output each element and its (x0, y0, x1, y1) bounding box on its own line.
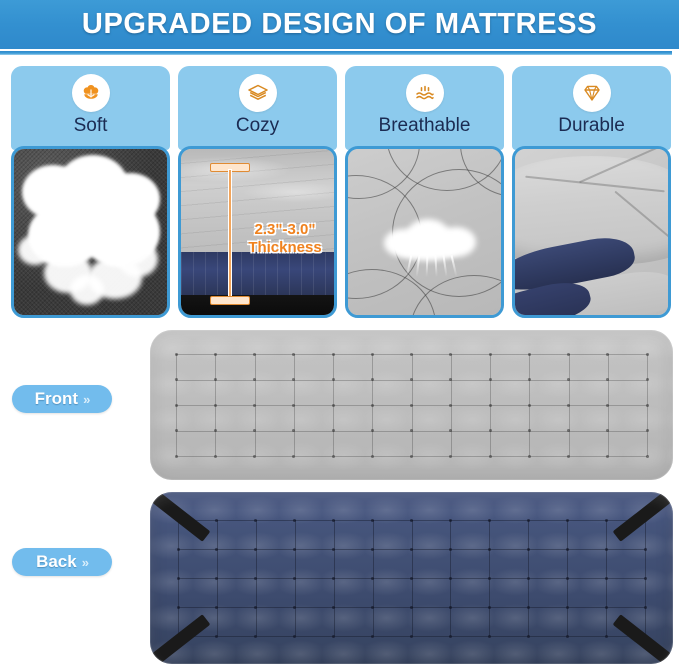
page-title: UPGRADED DESIGN OF MATTRESS (82, 8, 597, 41)
view-badge-label: Front (35, 389, 78, 409)
feature-card-header: Durable (512, 66, 671, 150)
chevron-right-icon: » (83, 392, 89, 407)
feature-label: Durable (558, 116, 625, 137)
cotton-boll-icon (72, 74, 110, 112)
header-banner: UPGRADED DESIGN OF MATTRESS (0, 0, 679, 49)
mattress-back-image (150, 492, 673, 664)
chevron-right-icon: » (82, 555, 88, 570)
feature-photo-breathability (345, 146, 504, 318)
feature-label: Cozy (236, 116, 279, 137)
feature-card-header: Soft (11, 66, 170, 150)
airflow-mist-graphic (384, 219, 476, 263)
header-divider-rule (0, 51, 672, 55)
mattress-front-image (150, 330, 673, 480)
thickness-callout: 2.3"-3.0" Thickness (231, 221, 334, 258)
feature-card-durable[interactable]: Durable (512, 66, 671, 320)
diamond-icon (573, 74, 611, 112)
feature-photo-durability (512, 146, 671, 318)
feature-photo-thickness: 2.3"-3.0" Thickness (178, 146, 337, 318)
feature-label: Breathable (379, 116, 471, 137)
view-badge-front[interactable]: Front » (12, 385, 112, 413)
feature-photo-fiber-fill (11, 146, 170, 318)
feature-label: Soft (74, 116, 108, 137)
stacked-layers-icon (239, 74, 277, 112)
airflow-waves-icon (406, 74, 444, 112)
feature-card-soft[interactable]: Soft (11, 66, 170, 320)
view-badge-back[interactable]: Back » (12, 548, 112, 576)
feature-card-cozy[interactable]: Cozy 2.3"-3.0" Thickness (178, 66, 337, 320)
feature-card-header: Cozy (178, 66, 337, 150)
feature-card-header: Breathable (345, 66, 504, 150)
view-badge-label: Back (36, 552, 77, 572)
thickness-label: Thickness (231, 239, 334, 257)
feature-card-breathable[interactable]: Breathable (345, 66, 504, 320)
thickness-value: 2.3"-3.0" (231, 221, 334, 239)
feature-card-row: Soft (11, 66, 671, 320)
